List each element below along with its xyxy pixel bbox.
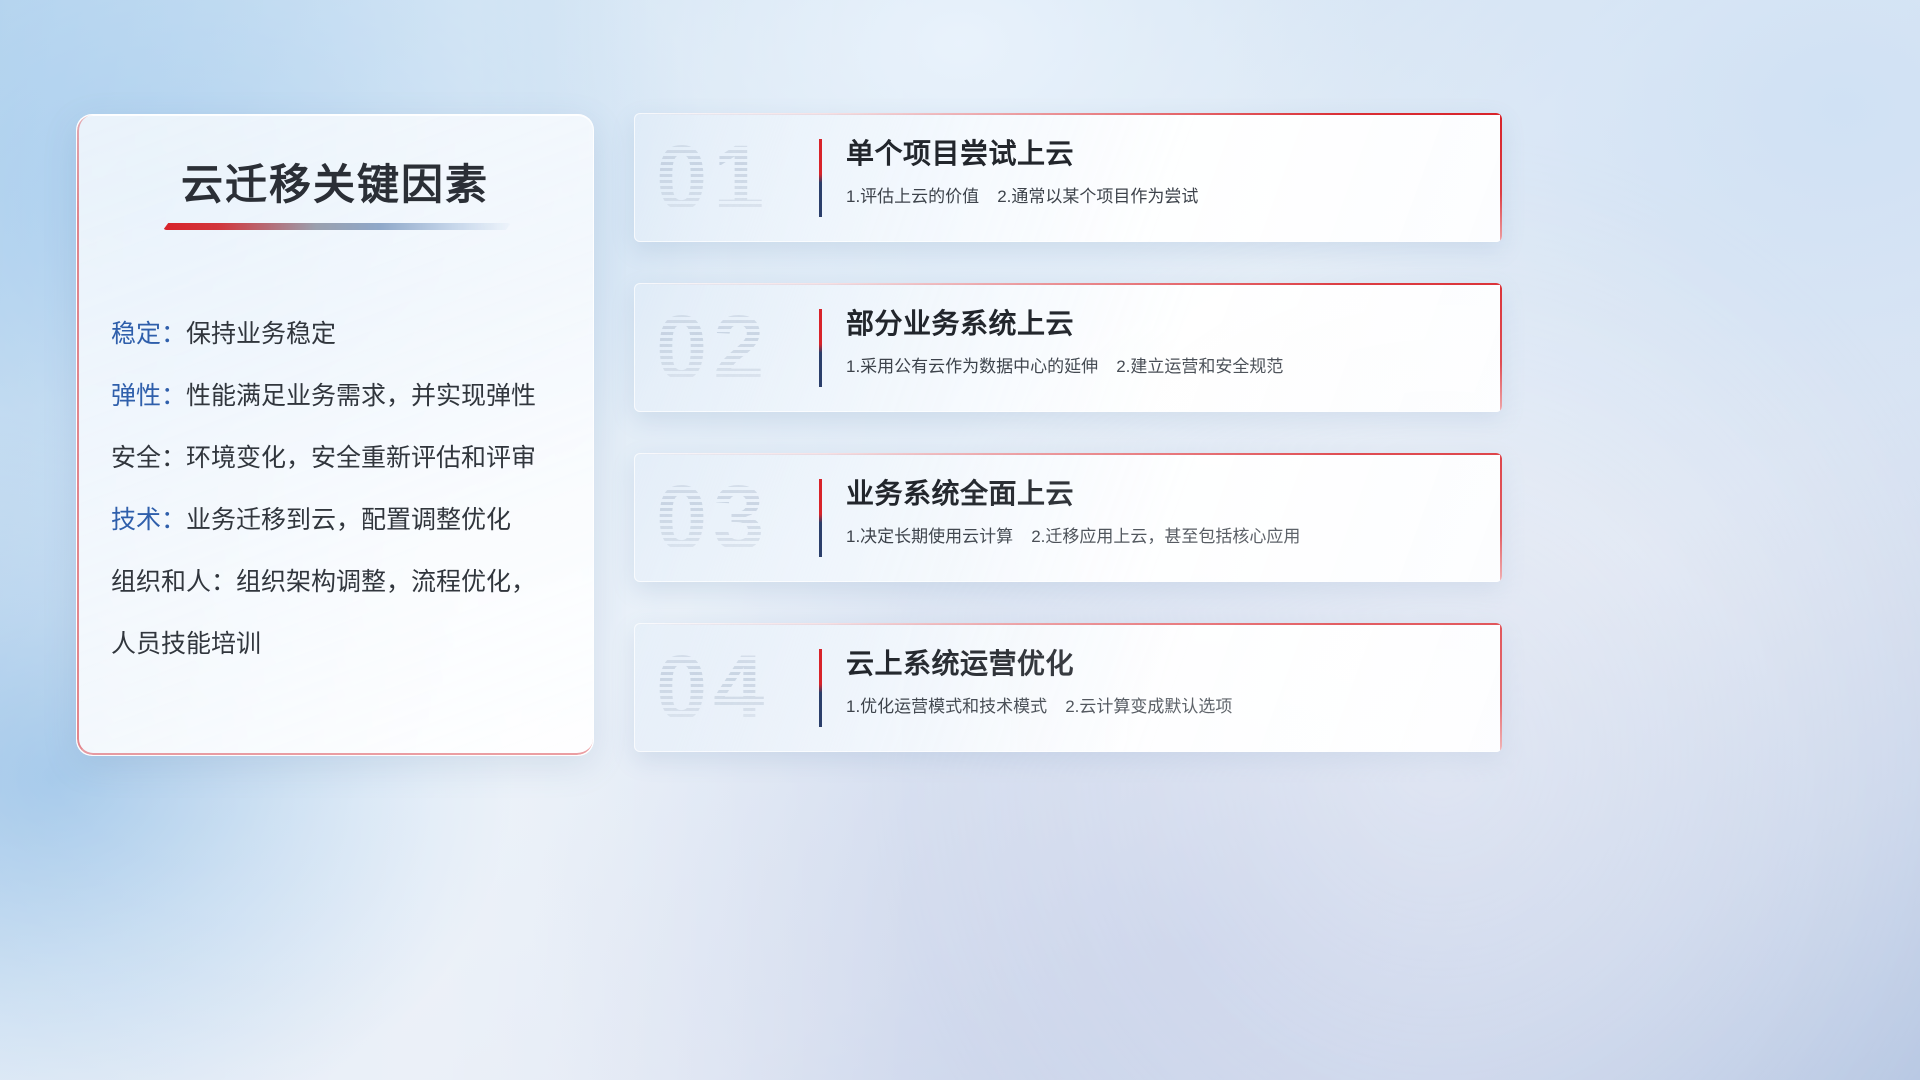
stage-number-watermark: 02 <box>656 302 770 394</box>
list-item: 技术：业务迁移到云，配置调整优化 <box>111 489 571 551</box>
card-description: 1.评估上云的价值2.通常以某个项目作为尝试 <box>846 185 1476 209</box>
factor-value: 环境变化，安全重新评估和评审 <box>186 444 536 472</box>
stage-card[interactable]: 02 部分业务系统上云 1.采用公有云作为数据中心的延伸2.建立运营和安全规范 <box>634 283 1502 412</box>
card-divider <box>819 649 822 727</box>
factor-list: 稳定：保持业务稳定 弹性：性能满足业务需求，并实现弹性 安全：环境变化，安全重新… <box>111 303 571 675</box>
card-divider <box>819 309 822 387</box>
list-item-continuation: 人员技能培训 <box>111 613 571 675</box>
factor-value: 业务迁移到云，配置调整优化 <box>186 506 511 534</box>
card-right-accent <box>1500 453 1502 582</box>
title-underline-gradient <box>163 223 511 230</box>
factor-key: 技术： <box>111 506 186 534</box>
card-top-accent <box>634 623 1502 625</box>
stage-number-watermark: 04 <box>656 642 770 734</box>
card-top-accent <box>634 113 1502 115</box>
card-right-accent <box>1500 113 1502 242</box>
card-title: 部分业务系统上云 <box>846 305 1476 343</box>
factor-key: 弹性： <box>111 382 186 410</box>
list-item: 组织和人：组织架构调整，流程优化， <box>111 551 571 613</box>
card-description-part-2: 2.迁移应用上云，甚至包括核心应用 <box>1031 527 1300 546</box>
card-title: 业务系统全面上云 <box>846 475 1476 513</box>
card-right-accent <box>1500 283 1502 412</box>
factor-value: 人员技能培训 <box>111 630 261 658</box>
card-description-part-1: 1.采用公有云作为数据中心的延伸 <box>846 357 1098 376</box>
stage-number-text: 04 <box>656 642 770 734</box>
stage-number-watermark: 03 <box>656 472 770 564</box>
card-description-part-1: 1.评估上云的价值 <box>846 187 979 206</box>
stage-number-text: 02 <box>656 302 770 394</box>
card-body: 单个项目尝试上云 1.评估上云的价值2.通常以某个项目作为尝试 <box>846 135 1476 209</box>
list-item: 安全：环境变化，安全重新评估和评审 <box>111 427 571 489</box>
stage-card[interactable]: 01 单个项目尝试上云 1.评估上云的价值2.通常以某个项目作为尝试 <box>634 113 1502 242</box>
card-body: 部分业务系统上云 1.采用公有云作为数据中心的延伸2.建立运营和安全规范 <box>846 305 1476 379</box>
card-right-accent <box>1500 623 1502 752</box>
factor-value: 保持业务稳定 <box>186 320 336 348</box>
stage-card-list: 01 单个项目尝试上云 1.评估上云的价值2.通常以某个项目作为尝试 02 部分… <box>634 113 1502 793</box>
card-title: 云上系统运营优化 <box>846 645 1476 683</box>
card-divider <box>819 139 822 217</box>
key-factors-panel: 云迁移关键因素 稳定：保持业务稳定 弹性：性能满足业务需求，并实现弹性 安全：环… <box>76 114 594 756</box>
card-description: 1.决定长期使用云计算2.迁移应用上云，甚至包括核心应用 <box>846 525 1476 549</box>
factor-value: 组织架构调整，流程优化， <box>236 568 536 596</box>
factor-key: 安全： <box>111 444 186 472</box>
card-body: 云上系统运营优化 1.优化运营模式和技术模式2.云计算变成默认选项 <box>846 645 1476 719</box>
card-divider <box>819 479 822 557</box>
factor-value: 性能满足业务需求，并实现弹性 <box>186 382 536 410</box>
slide-canvas: 云迁移关键因素 稳定：保持业务稳定 弹性：性能满足业务需求，并实现弹性 安全：环… <box>0 0 1920 1080</box>
list-item: 稳定：保持业务稳定 <box>111 303 571 365</box>
stage-number-text: 01 <box>656 132 770 224</box>
stage-card[interactable]: 03 业务系统全面上云 1.决定长期使用云计算2.迁移应用上云，甚至包括核心应用 <box>634 453 1502 582</box>
factor-key: 组织和人： <box>111 568 236 596</box>
card-description-part-2: 2.建立运营和安全规范 <box>1116 357 1283 376</box>
card-description-part-1: 1.决定长期使用云计算 <box>846 527 1013 546</box>
card-title: 单个项目尝试上云 <box>846 135 1476 173</box>
list-item: 弹性：性能满足业务需求，并实现弹性 <box>111 365 571 427</box>
card-description: 1.采用公有云作为数据中心的延伸2.建立运营和安全规范 <box>846 355 1476 379</box>
stage-number-text: 03 <box>656 472 770 564</box>
card-description-part-2: 2.通常以某个项目作为尝试 <box>997 187 1198 206</box>
card-description-part-2: 2.云计算变成默认选项 <box>1065 697 1232 716</box>
card-top-accent <box>634 453 1502 455</box>
card-body: 业务系统全面上云 1.决定长期使用云计算2.迁移应用上云，甚至包括核心应用 <box>846 475 1476 549</box>
factor-key: 稳定： <box>111 320 186 348</box>
card-top-accent <box>634 283 1502 285</box>
card-description-part-1: 1.优化运营模式和技术模式 <box>846 697 1047 716</box>
stage-card[interactable]: 04 云上系统运营优化 1.优化运营模式和技术模式2.云计算变成默认选项 <box>634 623 1502 752</box>
page-title: 云迁移关键因素 <box>77 151 593 212</box>
stage-number-watermark: 01 <box>656 132 770 224</box>
card-description: 1.优化运营模式和技术模式2.云计算变成默认选项 <box>846 695 1476 719</box>
